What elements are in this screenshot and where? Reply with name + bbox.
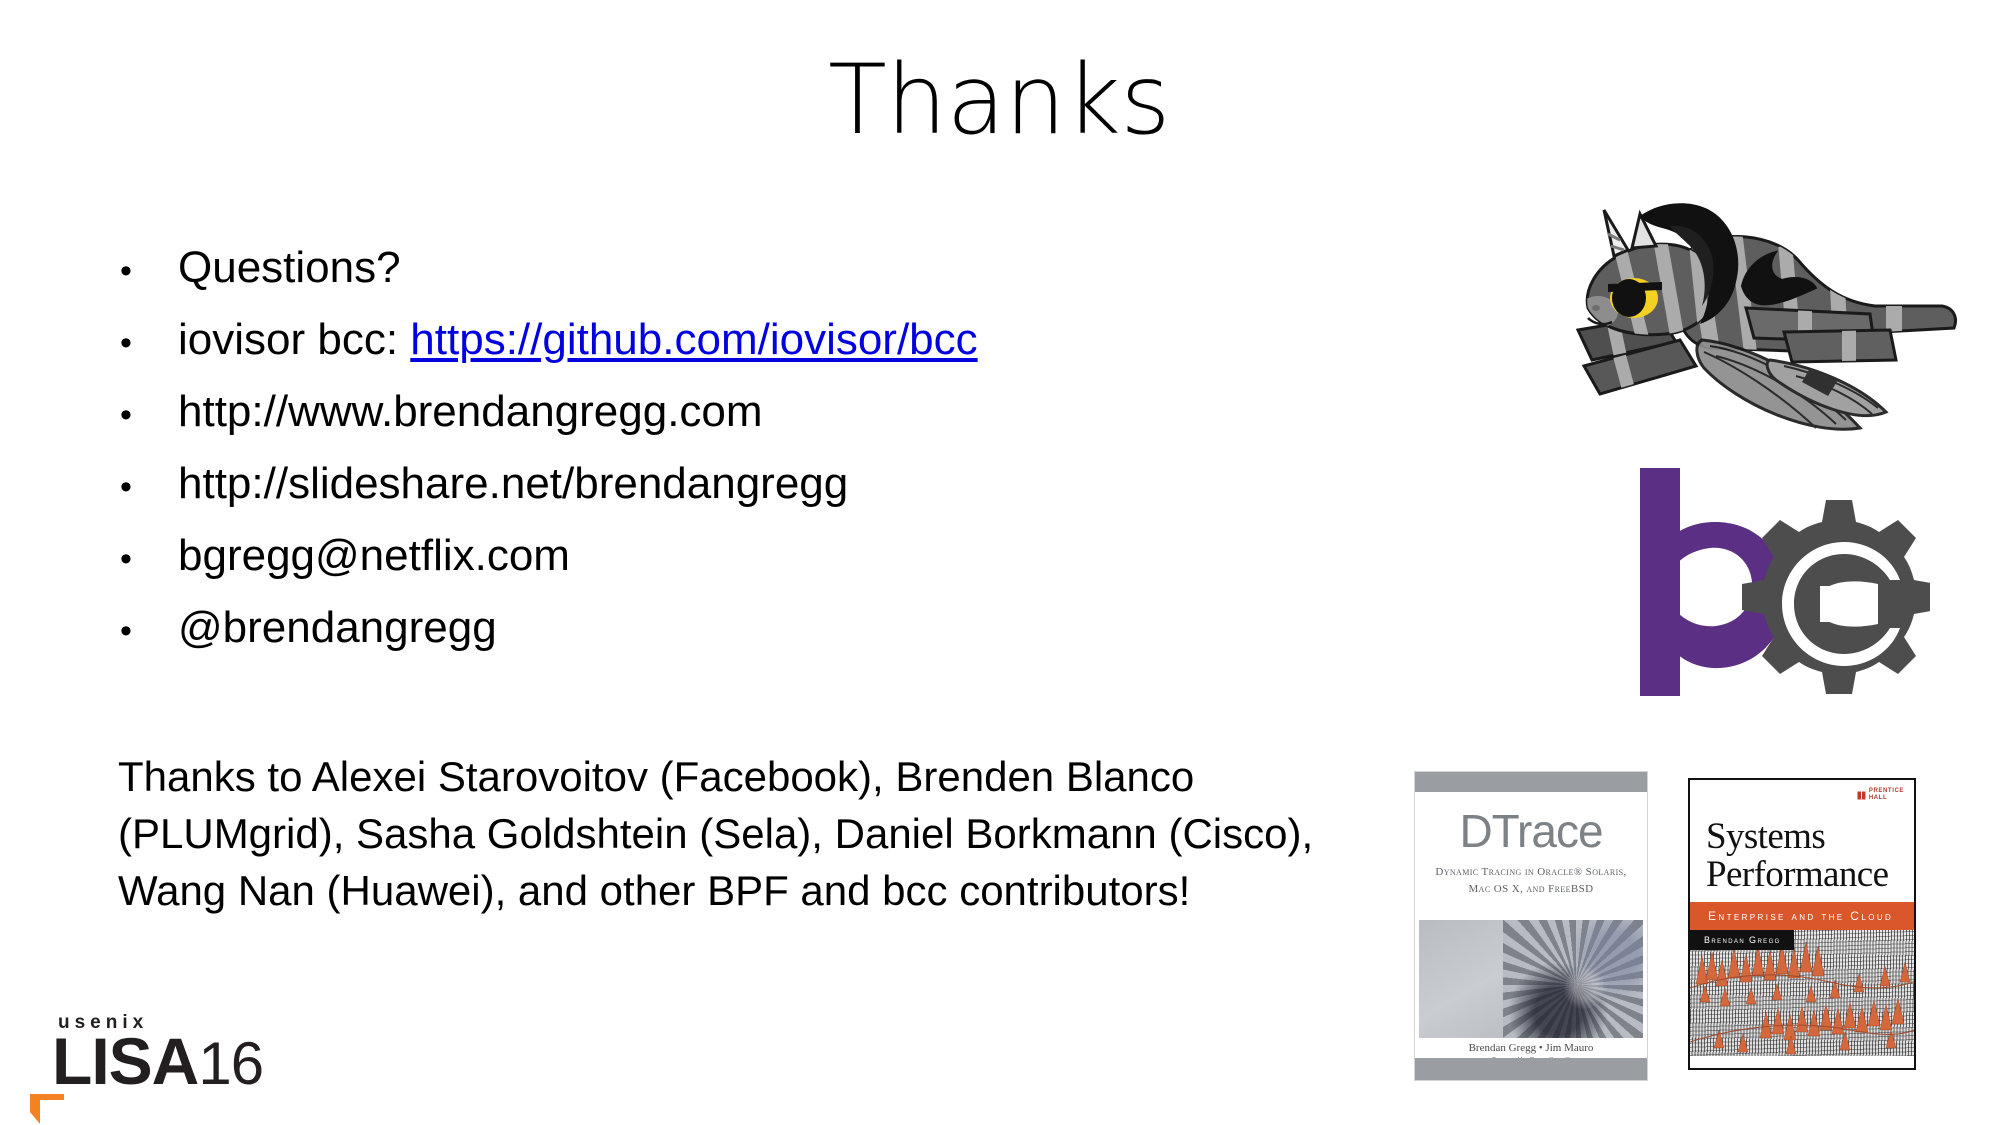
- dtrace-authors: Brendan Gregg • Jim Mauro: [1415, 1042, 1647, 1054]
- prentice-hall-mark-icon: [1857, 791, 1866, 800]
- bullet-icon: •: [104, 235, 178, 307]
- book-cover-systems-performance: PRENTICE HALL Systems Performance: [1688, 778, 1916, 1070]
- pony-nostril: [1592, 305, 1600, 311]
- prentice-hall-text: PRENTICE HALL: [1869, 788, 1904, 802]
- winged-unicorn-pony-icon: [1570, 190, 1970, 450]
- lisa16-logo: usenix LISA16: [22, 1012, 282, 1112]
- sysperf-title-line2: Performance: [1706, 856, 1904, 894]
- lisa-text: LISA: [52, 1024, 198, 1098]
- sysperf-band-text: Enterprise and the Cloud: [1690, 909, 1893, 923]
- bullet-text-email: bgregg@netflix.com: [178, 520, 1334, 592]
- bullet-text-homepage: http://www.brendangregg.com: [178, 376, 1334, 448]
- bcc-gear-c-icon: [1742, 500, 1930, 694]
- sysperf-title-line1: Systems: [1706, 818, 1904, 856]
- list-item: • http://slideshare.net/brendangregg: [104, 448, 1334, 520]
- sysperf-title: Systems Performance: [1706, 818, 1904, 894]
- list-item: • Questions?: [104, 232, 1334, 304]
- dtrace-top-band: [1415, 772, 1647, 792]
- dtrace-bottom-band: [1415, 1058, 1647, 1080]
- list-item: • iovisor bcc: https://github.com/ioviso…: [104, 304, 1334, 376]
- bcc-logo: [1630, 460, 1930, 710]
- lisa-year: 16: [198, 1030, 263, 1097]
- iovisor-label: iovisor bcc:: [178, 315, 410, 364]
- bullet-text-questions: Questions?: [178, 232, 1334, 304]
- bullet-list: • Questions? • iovisor bcc: https://gith…: [104, 232, 1334, 664]
- bpf-mascot-illustration: [1570, 190, 1970, 450]
- dtrace-cover-photo-fade: [1419, 920, 1503, 1038]
- bullet-icon: •: [104, 307, 178, 379]
- bullet-icon: •: [104, 451, 178, 523]
- bullet-text-slideshare: http://slideshare.net/brendangregg: [178, 448, 1334, 520]
- bullet-icon: •: [104, 595, 178, 667]
- thanks-paragraph: Thanks to Alexei Starovoitov (Facebook),…: [118, 748, 1328, 919]
- publisher-line1: PRENTICE: [1869, 788, 1904, 795]
- iovisor-bcc-link[interactable]: https://github.com/iovisor/bcc: [410, 315, 977, 364]
- dtrace-subtitle-line2: Mac OS X, and FreeBSD: [1425, 881, 1637, 898]
- list-item: • @brendangregg: [104, 592, 1334, 664]
- orange-flag-icon: [30, 1094, 64, 1124]
- lisa-wordmark: LISA16: [52, 1028, 263, 1097]
- publisher-line2: HALL: [1869, 795, 1904, 802]
- bullet-icon: •: [104, 379, 178, 451]
- sysperf-band: Enterprise and the Cloud: [1690, 902, 1914, 930]
- sysperf-author: Brendan Gregg: [1690, 935, 1781, 945]
- list-item: • bgregg@netflix.com: [104, 520, 1334, 592]
- dtrace-title: DTrace: [1415, 808, 1647, 854]
- bcc-logo-icon: [1630, 460, 1930, 710]
- page-title: Thanks: [0, 48, 1998, 154]
- bullet-icon: •: [104, 523, 178, 595]
- book-cover-dtrace: DTrace Dynamic Tracing in Oracle® Solari…: [1415, 772, 1647, 1080]
- dtrace-subtitle-line1: Dynamic Tracing in Oracle® Solaris,: [1425, 864, 1637, 881]
- bullet-text-iovisor: iovisor bcc: https://github.com/iovisor/…: [178, 304, 1334, 376]
- dtrace-subtitle: Dynamic Tracing in Oracle® Solaris, Mac …: [1425, 864, 1637, 898]
- prentice-hall-logo: PRENTICE HALL: [1857, 788, 1904, 802]
- list-item: • http://www.brendangregg.com: [104, 376, 1334, 448]
- sysperf-author-band: Brendan Gregg: [1690, 930, 1794, 950]
- sysperf-bottom-edge: [1690, 1056, 1914, 1068]
- bullet-text-twitter: @brendangregg: [178, 592, 1334, 664]
